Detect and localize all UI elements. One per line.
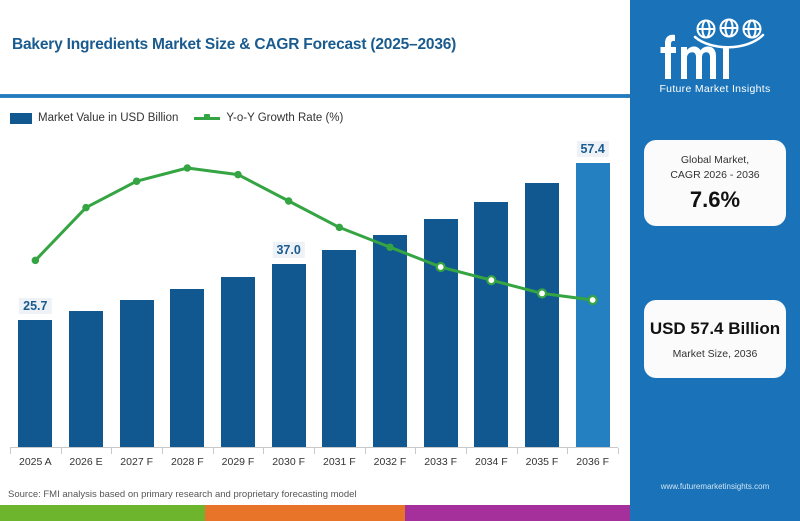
cagr-card: Global Market, CAGR 2026 - 2036 7.6% <box>644 140 786 226</box>
cagr-card-line1: Global Market, <box>681 153 749 167</box>
x-axis-tick <box>61 448 62 454</box>
fmi-logo-mark-icon <box>651 17 779 81</box>
legend-label-growth-rate: Y-o-Y Growth Rate (%) <box>226 112 343 124</box>
x-axis-label-2030-f: 2030 F <box>272 456 305 468</box>
cagr-card-line2: CAGR 2026 - 2036 <box>670 168 759 182</box>
x-axis-label-2026-e: 2026 E <box>69 456 102 468</box>
legend-label-market-value: Market Value in USD Billion <box>38 112 178 124</box>
x-axis-label-2033-f: 2033 F <box>424 456 457 468</box>
infographic-root: Bakery Ingredients Market Size & CAGR Fo… <box>0 0 800 521</box>
x-axis-tick <box>263 448 264 454</box>
x-axis-label-2025-a: 2025 A <box>19 456 52 468</box>
stripe-segment-0 <box>0 505 205 521</box>
market-size-card-sub: Market Size, 2036 <box>673 348 758 360</box>
x-axis-tick <box>567 448 568 454</box>
page-title: Bakery Ingredients Market Size & CAGR Fo… <box>12 36 456 54</box>
stripe-segment-1 <box>205 505 405 521</box>
x-axis-tick <box>365 448 366 454</box>
title-divider <box>0 94 630 98</box>
x-axis-tick <box>111 448 112 454</box>
legend-bar-swatch-icon <box>10 113 32 124</box>
x-axis-label-2031-f: 2031 F <box>323 456 356 468</box>
x-axis-label-2035-f: 2035 F <box>526 456 559 468</box>
x-axis-label-2032-f: 2032 F <box>374 456 407 468</box>
x-axis-label-2028-f: 2028 F <box>171 456 204 468</box>
chart-legend: Market Value in USD Billion Y-o-Y Growth… <box>10 112 343 124</box>
x-axis-tick <box>466 448 467 454</box>
brand-panel: Future Market Insights Global Market, CA… <box>630 0 800 505</box>
bar-value-label-2036-f: 57.4 <box>576 141 608 157</box>
x-axis-label-2034-f: 2034 F <box>475 456 508 468</box>
chart-panel: Bakery Ingredients Market Size & CAGR Fo… <box>0 0 630 505</box>
bar-value-label-2030-f: 37.0 <box>272 242 304 258</box>
fmi-logo-tagline: Future Market Insights <box>659 83 770 95</box>
bar-value-label-2025-a: 25.7 <box>19 298 51 314</box>
value-labels-layer: 25.737.057.4 <box>10 140 618 448</box>
legend-line-swatch-icon <box>194 113 220 123</box>
website-url: www.futuremarketinsights.com <box>630 482 800 491</box>
x-axis-label-2027-f: 2027 F <box>120 456 153 468</box>
x-axis-tick <box>10 448 11 454</box>
x-axis-tick <box>517 448 518 454</box>
x-axis-tick <box>618 448 619 454</box>
stripe-segment-3 <box>630 505 800 521</box>
fmi-logo: Future Market Insights <box>630 8 800 104</box>
legend-item-market-value[interactable]: Market Value in USD Billion <box>10 112 178 124</box>
x-axis-tick <box>213 448 214 454</box>
source-note: Source: FMI analysis based on primary re… <box>8 489 357 500</box>
x-axis-labels: 2025 A2026 E2027 F2028 F2029 F2030 F2031… <box>10 456 618 478</box>
market-size-card: USD 57.4 Billion Market Size, 2036 <box>644 300 786 378</box>
plot-area: 25.737.057.4 <box>10 140 618 448</box>
cagr-card-value: 7.6% <box>690 187 740 213</box>
x-axis-label-2029-f: 2029 F <box>222 456 255 468</box>
bottom-color-stripe <box>0 505 800 521</box>
x-axis-tick <box>314 448 315 454</box>
market-size-card-value: USD 57.4 Billion <box>650 319 780 339</box>
x-axis-tick <box>162 448 163 454</box>
legend-item-growth-rate[interactable]: Y-o-Y Growth Rate (%) <box>194 112 343 124</box>
x-axis-tick <box>415 448 416 454</box>
stripe-segment-2 <box>405 505 630 521</box>
x-axis-label-2036-f: 2036 F <box>576 456 609 468</box>
